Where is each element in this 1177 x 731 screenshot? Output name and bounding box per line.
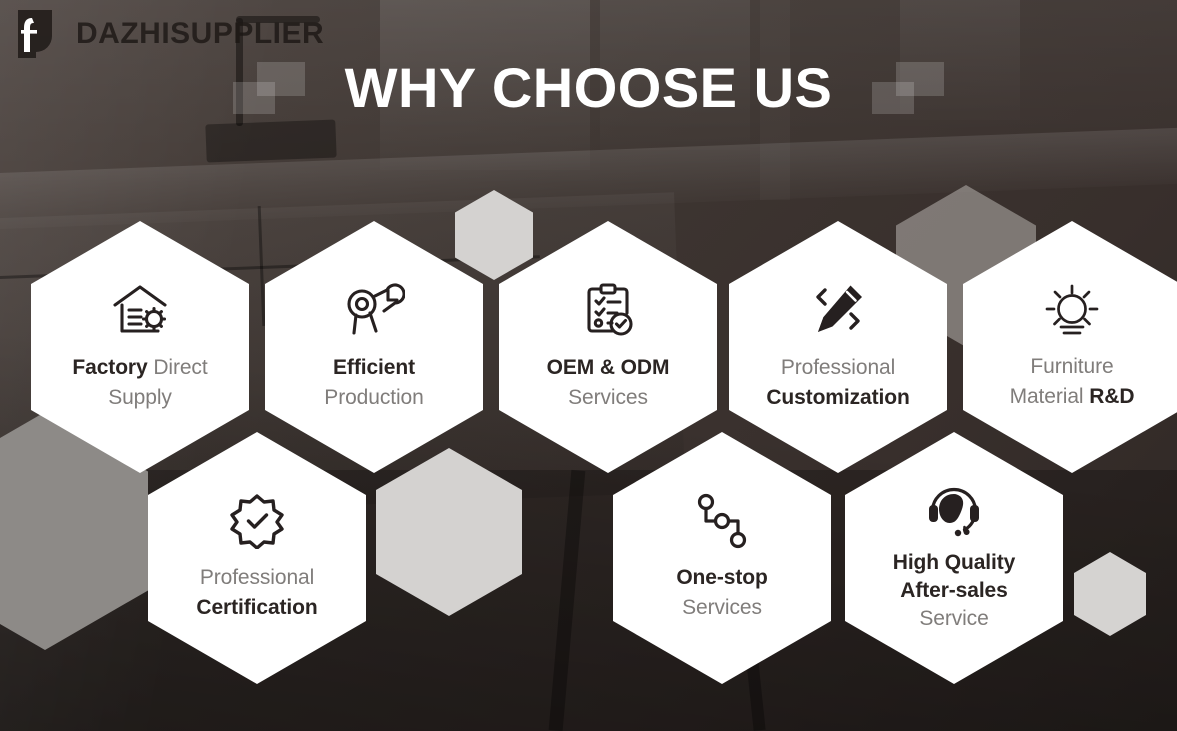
brand-logo-text: DAZHISUPPLIER [76,17,324,51]
feature-label-regular: Furniture [1030,355,1113,378]
feature-label-bold: After-sales [900,579,1007,602]
brand-logo[interactable]: DAZHISUPPLIER [8,6,324,62]
feature-label: Furniture Material R&D [1010,352,1135,412]
feature-label-bold: One-stop [676,566,767,589]
feature-label-regular: Professional [200,566,314,589]
clipboard-check-icon [579,281,637,339]
feature-label: OEM & ODM Services [547,353,670,413]
feature-label-regular: Service [919,607,988,630]
feature-label: High Quality After-sales Service [893,549,1015,632]
certification-badge-icon [229,493,285,549]
feature-label-regular: Professional [781,356,895,379]
workflow-nodes-icon [694,493,750,549]
feature-label-regular: Material [1010,385,1090,408]
feature-label-regular: Supply [108,386,172,409]
feature-label-regular: Services [682,596,762,619]
background-sink [205,120,336,163]
machine-wrench-icon [343,281,405,339]
feature-label: Factory Direct Supply [72,353,207,413]
feature-label-bold: Customization [766,386,909,409]
feature-label-bold: R&D [1089,385,1134,408]
feature-label: Professional Customization [766,353,909,413]
lightbulb-idea-icon [1041,282,1103,338]
feature-label: Professional Certification [196,563,317,623]
headset-support-icon [926,483,982,539]
feature-label-bold: Factory [72,356,147,379]
factory-gear-icon [109,281,171,339]
title-decoration-right-icon [872,60,944,116]
feature-label: Efficient Production [324,353,423,413]
feature-label-bold: High Quality [893,551,1015,574]
title-row: WHY CHOOSE US [0,60,1177,116]
fr-monogram-icon [8,6,62,62]
page-title: WHY CHOOSE US [345,60,833,116]
pencil-brackets-icon [808,281,868,339]
title-decoration-left-icon [233,60,305,116]
feature-label-regular: Production [324,386,423,409]
slide-canvas: DAZHISUPPLIER WHY CHOOSE US Factory Dire… [0,0,1177,731]
feature-label-regular: Services [568,386,648,409]
feature-label-bold: Efficient [333,356,415,379]
feature-label: One-stop Services [676,563,767,623]
feature-label-bold: OEM & ODM [547,356,670,379]
feature-label-regular: Direct [148,356,208,379]
feature-label-bold: Certification [196,596,317,619]
